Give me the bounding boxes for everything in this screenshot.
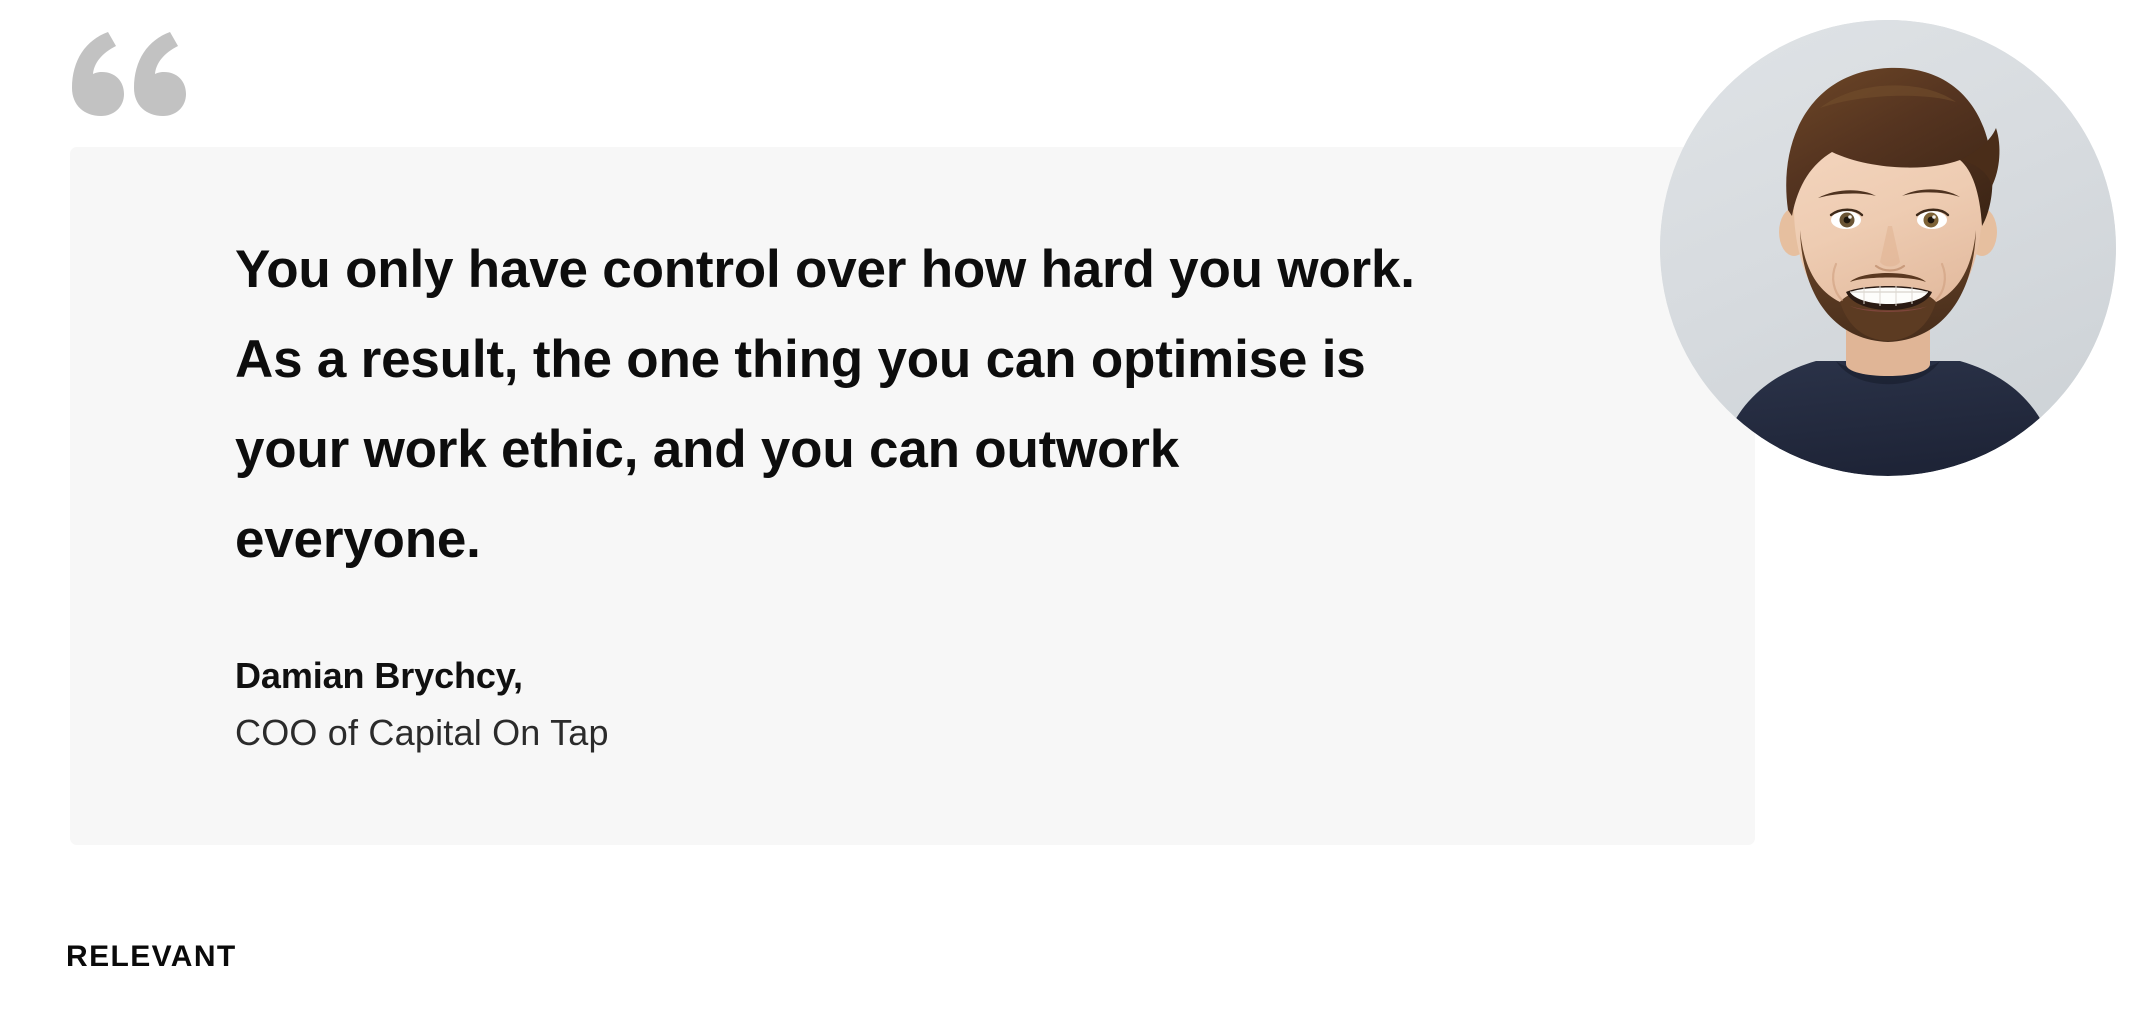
quote-line: your work ethic, and you can outwork bbox=[235, 405, 1635, 495]
author-name: Damian Brychcy, bbox=[235, 648, 609, 704]
testimonial-page: You only have control over how hard you … bbox=[0, 0, 2152, 1013]
author-role: COO of Capital On Tap bbox=[235, 704, 609, 762]
quote-line: As a result, the one thing you can optim… bbox=[235, 315, 1635, 405]
quote-line: everyone. bbox=[235, 495, 1635, 585]
quote-text: You only have control over how hard you … bbox=[235, 225, 1635, 585]
quote-line: You only have control over how hard you … bbox=[235, 225, 1635, 315]
portrait-avatar bbox=[1660, 20, 2116, 476]
attribution: Damian Brychcy, COO of Capital On Tap bbox=[235, 648, 609, 762]
double-quote-icon bbox=[64, 10, 194, 140]
footer-label: RELEVANT bbox=[66, 940, 237, 974]
